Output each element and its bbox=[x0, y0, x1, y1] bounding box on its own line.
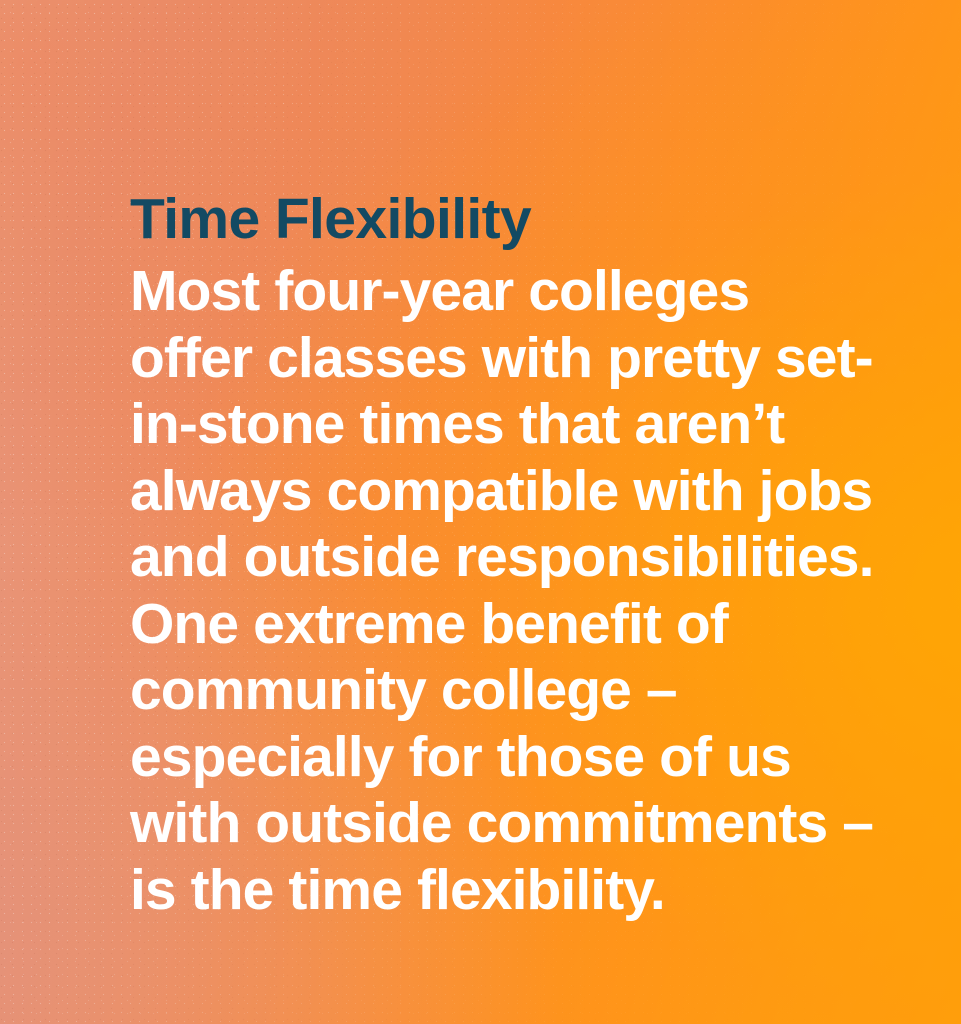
body-line: with outside commitments – bbox=[130, 790, 927, 857]
body-line: in-stone times that aren’t bbox=[130, 391, 927, 458]
text-content-block: Time Flexibility Most four-year colleges… bbox=[130, 186, 927, 923]
body-line: always compatible with jobs bbox=[130, 458, 927, 525]
body-paragraph: Most four-year colleges offer classes wi… bbox=[130, 258, 927, 923]
body-line: and outside responsibilities. bbox=[130, 524, 927, 591]
body-line: especially for those of us bbox=[130, 724, 927, 791]
time-flexibility-slide: Time Flexibility Most four-year colleges… bbox=[0, 0, 961, 1024]
body-line: is the time flexibility. bbox=[130, 857, 927, 924]
body-line: community college – bbox=[130, 657, 927, 724]
page-title: Time Flexibility bbox=[130, 186, 927, 252]
body-line: offer classes with pretty set- bbox=[130, 325, 927, 392]
body-line: One extreme benefit of bbox=[130, 591, 927, 658]
body-line: Most four-year colleges bbox=[130, 258, 927, 325]
